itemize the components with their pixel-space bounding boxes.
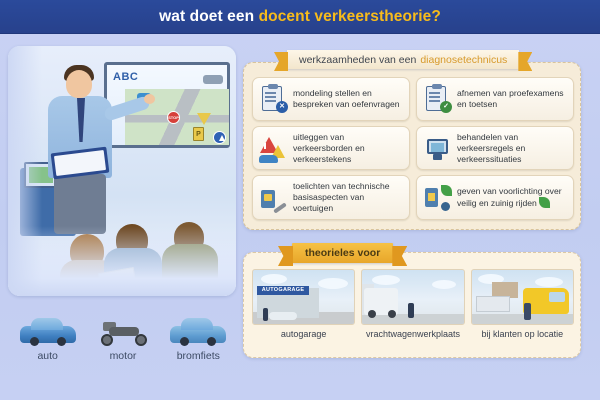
- clipboard-question-icon: ✕: [258, 84, 288, 114]
- location-item-1[interactable]: AUTOGARAGE autogarage: [252, 269, 355, 339]
- task-label-4: behandelen van verkeersregels en verkeer…: [457, 132, 567, 164]
- vehicle-types-row: auto motor bromfiets: [10, 300, 236, 362]
- location-item-2[interactable]: vrachtwagenwerkplaats: [361, 269, 464, 339]
- task-label-1: mondeling stellen en bespreken van oefen…: [293, 88, 403, 110]
- page-title-accent: docent verkeerstheorie?: [259, 8, 441, 25]
- diagram-car2-icon: [203, 75, 223, 84]
- page-title: wat doet een docent verkeerstheorie?: [159, 8, 441, 26]
- vrachtwagen-photo: [361, 269, 464, 325]
- autogarage-photo: AUTOGARAGE: [252, 269, 355, 325]
- eco-leaf-inline-icon: [539, 197, 550, 208]
- task-card-6[interactable]: geven van voorlichting over veilig en zu…: [416, 175, 574, 219]
- task-card-5[interactable]: toelichten van technische basisaspecten …: [252, 175, 410, 219]
- stop-sign-icon: STOP: [167, 111, 180, 124]
- tasks-grid: ✕ mondeling stellen en bespreken van oef…: [252, 77, 574, 220]
- locations-section-ribbon: theorieles voor: [292, 243, 393, 263]
- tasks-ribbon-plain: werkzaamheden van een: [299, 54, 416, 66]
- teacher-legs: [54, 174, 106, 234]
- location-label-2: vrachtwagenwerkplaats: [361, 329, 464, 339]
- vehicle-item-bromfiets: bromfiets: [164, 317, 232, 362]
- location-label-1: autogarage: [252, 329, 355, 339]
- eco-fuel-icon: [422, 183, 452, 213]
- page-title-bar: wat doet een docent verkeerstheorie?: [0, 0, 600, 34]
- vehicle-label-auto: auto: [14, 350, 82, 362]
- location-label-3: bij klanten op locatie: [471, 329, 574, 339]
- illustration-left-fade: [8, 46, 42, 296]
- tasks-panel: ✕ mondeling stellen en bespreken van oef…: [243, 62, 581, 230]
- traffic-warning-signs-icon: [258, 133, 288, 163]
- page-title-plain: wat doet een: [159, 8, 258, 25]
- vehicle-label-motor: motor: [89, 350, 157, 362]
- task-card-1[interactable]: ✕ mondeling stellen en bespreken van oef…: [252, 77, 410, 121]
- task-label-5: toelichten van technische basisaspecten …: [293, 181, 403, 213]
- car-icon: [14, 317, 82, 347]
- clipboard-clock-icon: ✓: [422, 84, 452, 114]
- yield-sign-icon: [197, 113, 211, 125]
- motorcycle-icon: [89, 317, 157, 347]
- illustration-bottom-fade: [8, 226, 236, 296]
- whiteboard-abc-label: ABC: [113, 71, 138, 83]
- teacher-hand: [144, 94, 155, 104]
- clipboard-badge: ✕: [276, 101, 288, 113]
- location-item-3[interactable]: bij klanten op locatie: [471, 269, 574, 339]
- vehicle-item-auto: auto: [14, 317, 82, 362]
- task-card-4[interactable]: behandelen van verkeersregels en verkeer…: [416, 126, 574, 170]
- clipboard-check-badge: ✓: [440, 101, 452, 113]
- vehicle-label-bromfiets: bromfiets: [164, 350, 232, 362]
- mandatory-direction-sign-icon: [213, 131, 226, 144]
- parking-sign-icon: P: [193, 127, 204, 141]
- tasks-section-ribbon: werkzaamheden van een diagnosetechnicus: [287, 50, 519, 69]
- classroom-illustration: ABC STOP P: [8, 46, 236, 296]
- task-label-2: afnemen van proefexamens en toetsen: [457, 88, 567, 110]
- tasks-ribbon-accent: diagnosetechnicus: [420, 54, 507, 66]
- teacher-head: [66, 70, 92, 98]
- diagnostic-computer-icon: [422, 133, 452, 163]
- toolbox-icon: [258, 183, 288, 213]
- task-label-6: geven van voorlichting over veilig en zu…: [457, 186, 567, 209]
- locations-grid: AUTOGARAGE autogarage vrachtwagenwerkpla…: [252, 269, 574, 339]
- task-card-2[interactable]: ✓ afnemen van proefexamens en toetsen: [416, 77, 574, 121]
- task-label-3: uitleggen van verkeersborden en verkeers…: [293, 132, 403, 164]
- autogarage-sign-text: AUTOGARAGE: [257, 286, 309, 295]
- locations-panel: AUTOGARAGE autogarage vrachtwagenwerkpla…: [243, 252, 581, 358]
- vehicle-item-motor: motor: [89, 317, 157, 362]
- task-card-3[interactable]: uitleggen van verkeersborden en verkeers…: [252, 126, 410, 170]
- bestelbus-op-locatie-photo: [471, 269, 574, 325]
- moped-icon: [164, 317, 232, 347]
